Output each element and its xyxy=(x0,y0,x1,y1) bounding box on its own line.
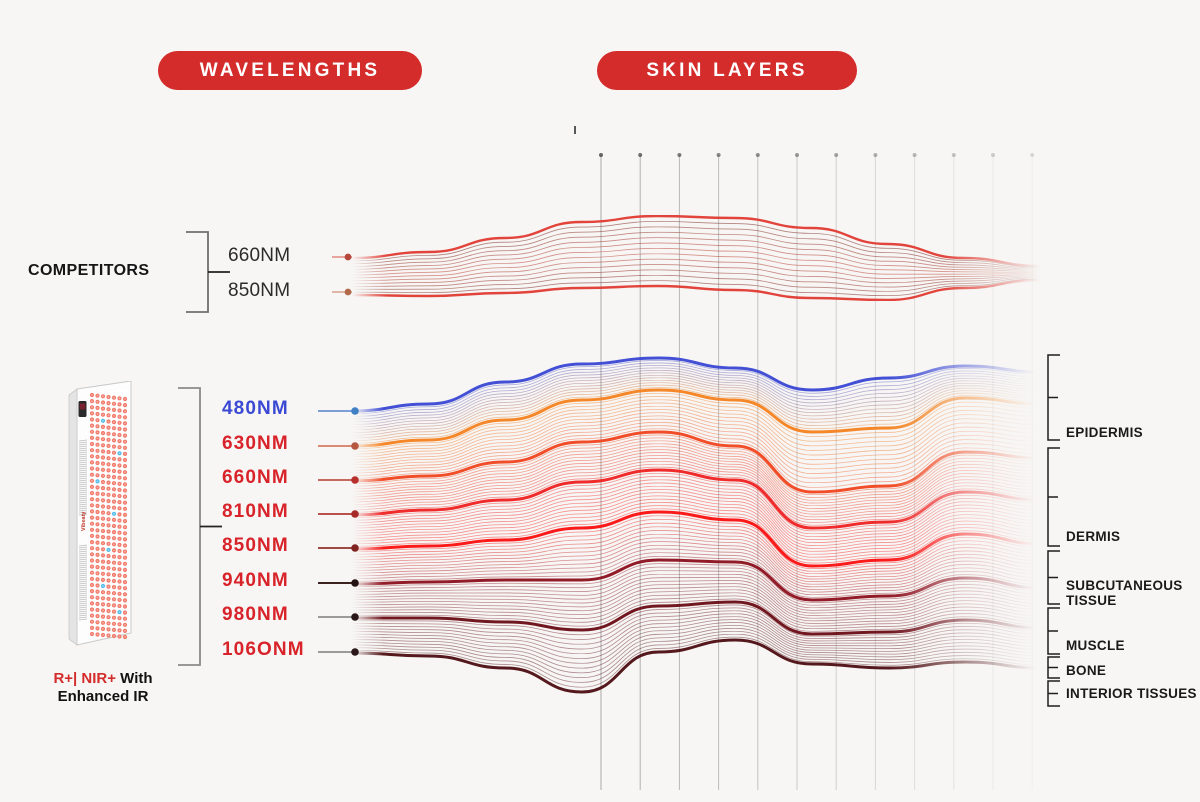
wavelength-leader-dot xyxy=(351,510,359,518)
grid-line-dot xyxy=(756,153,760,157)
device-caption: R+| NIR+ With Enhanced IR xyxy=(18,670,188,706)
skin-layer-label-muscle: MUSCLE xyxy=(1066,638,1125,653)
wavelength-label-940nm: 940NM xyxy=(222,570,289,592)
main-wave-band xyxy=(352,358,1042,692)
competitor-leader-dot xyxy=(345,254,352,261)
wavelength-label-810nm: 810NM xyxy=(222,501,289,523)
badge-skin-layers: SKIN LAYERS xyxy=(597,51,857,90)
grid-line-dot xyxy=(677,153,681,157)
skin-layer-bracket xyxy=(1048,608,1060,654)
grid-line-dot xyxy=(834,153,838,157)
skin-layer-label-interior-tissues: INTERIOR TISSUES xyxy=(1066,686,1197,701)
bracket-outline xyxy=(186,232,208,312)
wave-filler-line xyxy=(352,530,1042,579)
wavelength-leader-dot xyxy=(351,407,359,415)
competitor-wave-band xyxy=(352,216,1040,300)
competitors-title: COMPETITORS xyxy=(28,262,149,280)
grid-line-dot xyxy=(991,153,995,157)
wavelength-label-850nm: 850NM xyxy=(222,535,289,557)
led-panel-device: Vibeaty xyxy=(55,381,145,653)
competitor-wave-line xyxy=(352,280,1040,300)
wavelength-leader-dot xyxy=(351,476,359,484)
grid-line-dot xyxy=(599,153,603,157)
wavelength-leader-dot xyxy=(351,579,359,587)
badge-wavelengths: WAVELENGTHS xyxy=(158,51,422,90)
device-brand-text: Vibeaty xyxy=(81,511,87,531)
competitors-bracket xyxy=(186,232,230,312)
wavelength-label-480nm: 480NM xyxy=(222,398,289,420)
wavelength-label-630nm: 630NM xyxy=(222,433,289,455)
competitor-wave-line xyxy=(352,270,1040,287)
device-caption-highlight: R+| NIR+ xyxy=(53,670,116,687)
device-caption-rest: With xyxy=(116,670,153,687)
badge-skin-layers-label: SKIN LAYERS xyxy=(646,60,807,82)
grid-line-dot xyxy=(717,153,721,157)
device-caption-line2: Enhanced IR xyxy=(58,688,149,705)
grid-line-dot xyxy=(873,153,877,157)
grid-line-dot xyxy=(795,153,799,157)
grid-line-dot xyxy=(913,153,917,157)
device-side-face xyxy=(69,389,77,645)
competitor-label-850nm: 850NM xyxy=(228,280,290,302)
wavelengths-bracket xyxy=(178,388,222,665)
wavelength-label-980nm: 980NM xyxy=(222,604,289,626)
skin-layer-bracket xyxy=(1048,681,1060,706)
wave-filler-line xyxy=(352,628,1042,673)
wavelength-label-660nm: 660NM xyxy=(222,467,289,489)
device-display-screen xyxy=(80,404,85,410)
skin-layer-label-subcutaneous-tissue: SUBCUTANEOUS TISSUE xyxy=(1066,578,1183,608)
skin-layer-bracket xyxy=(1048,355,1060,440)
grid-line-dot xyxy=(952,153,956,157)
wavelength-leader-dot xyxy=(351,613,359,621)
wavelength-leader-dot xyxy=(351,544,359,552)
grid-line-dot xyxy=(638,153,642,157)
skin-layer-bracket xyxy=(1048,551,1060,604)
wavelength-label-106onm: 106ONM xyxy=(222,639,305,661)
infographic-canvas: WAVELENGTHS SKIN LAYERS COMPETITORS 660N… xyxy=(0,0,1200,802)
wavelength-leader-dot xyxy=(351,648,359,656)
skin-layer-label-bone: BONE xyxy=(1066,663,1106,678)
skin-layer-bracket xyxy=(1048,448,1060,546)
competitor-label-660nm: 660NM xyxy=(228,245,290,267)
bracket-outline xyxy=(178,388,200,665)
competitor-leader-dot xyxy=(345,289,352,296)
skin-layer-label-dermis: DERMIS xyxy=(1066,529,1120,544)
wavelength-leader-dot xyxy=(351,442,359,450)
competitor-wave-line xyxy=(352,232,1040,269)
wave-envelope-480nm xyxy=(352,358,1042,411)
badge-wavelengths-label: WAVELENGTHS xyxy=(200,60,381,82)
skin-layer-label-epidermis: EPIDERMIS xyxy=(1066,425,1143,440)
grid-line-dot xyxy=(1030,153,1034,157)
competitor-wave-line xyxy=(352,216,1040,266)
skin-layer-bracket xyxy=(1048,657,1060,678)
